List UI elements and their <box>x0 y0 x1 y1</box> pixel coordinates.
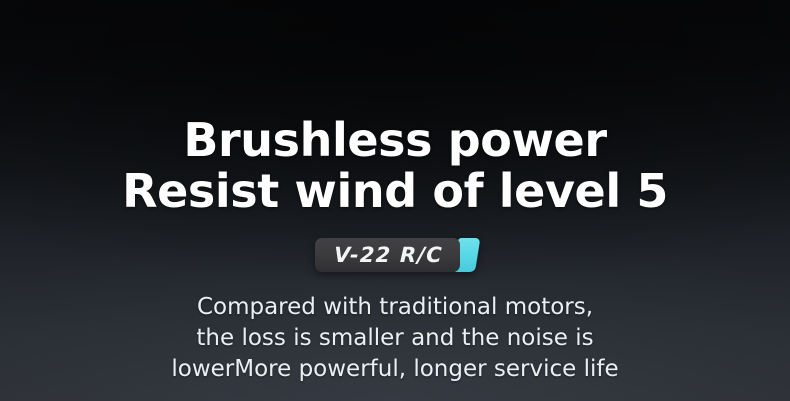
subtitle-block: Compared with traditional motors, the lo… <box>171 292 618 385</box>
subtitle-line-1: Compared with traditional motors, <box>171 292 618 323</box>
headline-line-1: Brushless power <box>183 115 606 166</box>
subtitle-line-3: lowerMore powerful, longer service life <box>171 354 618 385</box>
model-badge: V-22 R/C <box>315 238 475 272</box>
model-badge-label: V-22 R/C <box>334 245 444 266</box>
headline-line-2: Resist wind of level 5 <box>122 166 668 217</box>
model-badge-body: V-22 R/C <box>315 238 460 272</box>
subtitle-line-2: the loss is smaller and the noise is <box>171 323 618 354</box>
product-hero-banner: Brushless power Resist wind of level 5 V… <box>0 0 790 401</box>
banner-content: Brushless power Resist wind of level 5 V… <box>0 0 790 401</box>
